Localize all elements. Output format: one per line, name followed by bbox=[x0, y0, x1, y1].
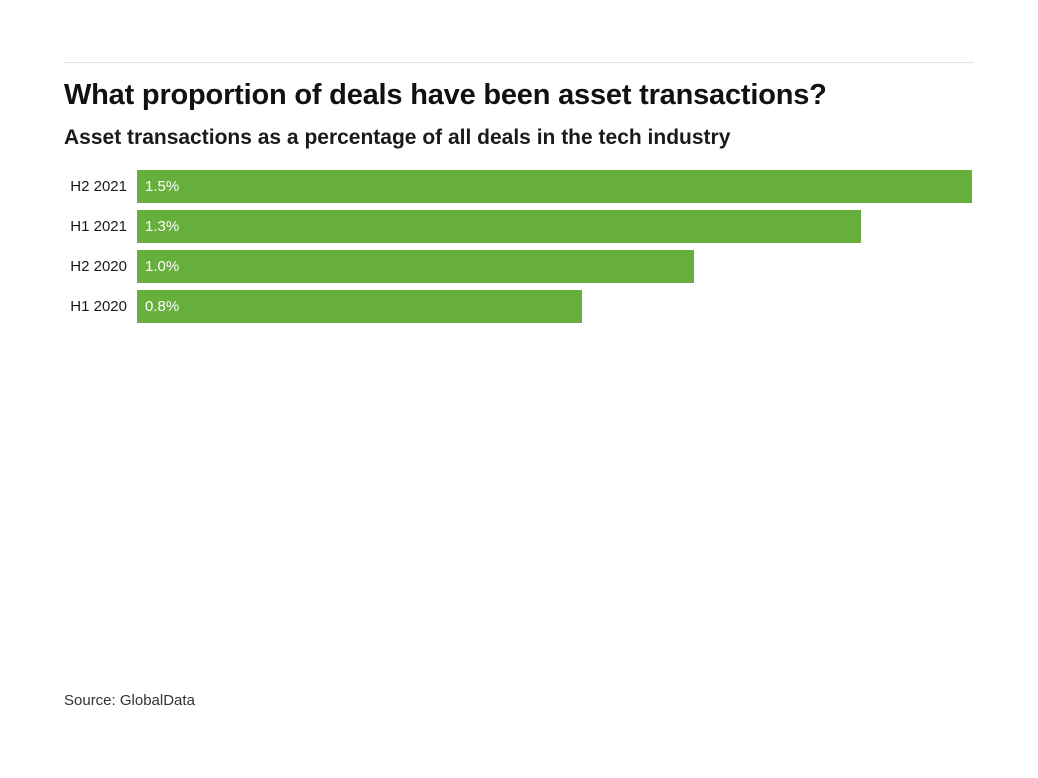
bar-value-label: 1.0% bbox=[145, 259, 179, 274]
bar-category-label: H1 2020 bbox=[0, 290, 127, 323]
bar-value-label: 0.8% bbox=[145, 299, 179, 314]
chart-subtitle: Asset transactions as a percentage of al… bbox=[64, 125, 994, 151]
bar-row: H2 20201.0% bbox=[0, 250, 1038, 283]
bar-chart-plot: H2 20211.5%H1 20211.3%H2 20201.0%H1 2020… bbox=[0, 170, 1038, 330]
header-divider bbox=[64, 62, 974, 63]
bar-value-label: 1.3% bbox=[145, 219, 179, 234]
bar-category-label: H1 2021 bbox=[0, 210, 127, 243]
source-caption: Source: GlobalData bbox=[64, 692, 195, 709]
bar-track: 0.8% bbox=[137, 290, 1038, 323]
bar-segment[interactable]: 1.3% bbox=[137, 210, 861, 243]
bar-category-label: H2 2021 bbox=[0, 170, 127, 203]
bar-category-label: H2 2020 bbox=[0, 250, 127, 283]
bar-track: 1.3% bbox=[137, 210, 1038, 243]
bar-row: H2 20211.5% bbox=[0, 170, 1038, 203]
bar-segment[interactable]: 1.0% bbox=[137, 250, 694, 283]
bar-row: H1 20200.8% bbox=[0, 290, 1038, 323]
bar-track: 1.5% bbox=[137, 170, 1038, 203]
chart-canvas: What proportion of deals have been asset… bbox=[0, 0, 1038, 778]
page-title: What proportion of deals have been asset… bbox=[64, 78, 994, 112]
bar-row: H1 20211.3% bbox=[0, 210, 1038, 243]
bar-segment[interactable]: 1.5% bbox=[137, 170, 972, 203]
bar-value-label: 1.5% bbox=[145, 179, 179, 194]
bar-track: 1.0% bbox=[137, 250, 1038, 283]
bar-segment[interactable]: 0.8% bbox=[137, 290, 582, 323]
